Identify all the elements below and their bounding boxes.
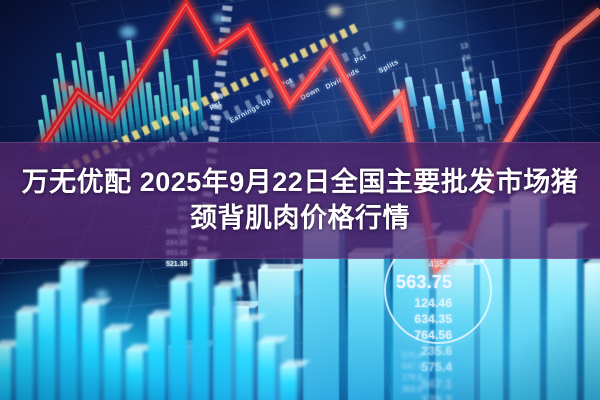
noise-overlay bbox=[0, 0, 600, 400]
stock-market-banner-image: Earnings UpDownDividendsSplitsPctPctPctD… bbox=[0, 0, 600, 400]
